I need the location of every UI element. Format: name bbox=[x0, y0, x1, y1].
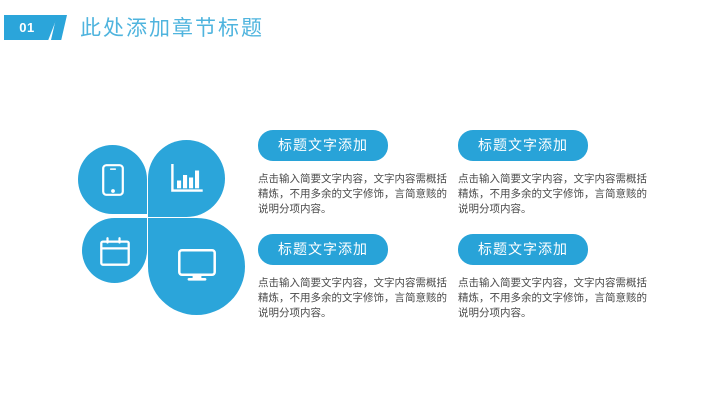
content-item-body: 点击输入简要文字内容，文字内容需概括精炼，不用多余的文字修饰，言简意赅的说明分项… bbox=[258, 276, 454, 321]
section-number-badge: 01 bbox=[4, 15, 58, 40]
content-item-3: 标题文字添加 点击输入简要文字内容，文字内容需概括精炼，不用多余的文字修饰，言简… bbox=[258, 234, 458, 321]
content-item-1: 标题文字添加 点击输入简要文字内容，文字内容需概括精炼，不用多余的文字修饰，言简… bbox=[258, 130, 458, 217]
content-item-title[interactable]: 标题文字添加 bbox=[458, 234, 588, 265]
calendar-icon bbox=[100, 237, 130, 266]
clover-petal-top-left[interactable] bbox=[78, 145, 147, 214]
slide-header: 01 此处添加章节标题 bbox=[0, 0, 720, 55]
clover-petal-bottom-right[interactable] bbox=[148, 218, 245, 315]
clover-petal-bottom-left[interactable] bbox=[82, 218, 147, 283]
content-item-body: 点击输入简要文字内容，文字内容需概括精炼，不用多余的文字修饰，言简意赅的说明分项… bbox=[458, 172, 654, 217]
content-item-body: 点击输入简要文字内容，文字内容需概括精炼，不用多余的文字修饰，言简意赅的说明分项… bbox=[258, 172, 454, 217]
clover-petal-top-right[interactable] bbox=[148, 140, 225, 217]
content-item-body: 点击输入简要文字内容，文字内容需概括精炼，不用多余的文字修饰，言简意赅的说明分项… bbox=[458, 276, 654, 321]
monitor-icon bbox=[178, 249, 216, 282]
page-title: 此处添加章节标题 bbox=[80, 12, 264, 42]
content-item-title[interactable]: 标题文字添加 bbox=[458, 130, 588, 161]
content-item-4: 标题文字添加 点击输入简要文字内容，文字内容需概括精炼，不用多余的文字修饰，言简… bbox=[458, 234, 658, 321]
clover-icon-cluster bbox=[70, 138, 252, 324]
smartphone-icon bbox=[102, 164, 124, 196]
content-grid: 标题文字添加 点击输入简要文字内容，文字内容需概括精炼，不用多余的文字修饰，言简… bbox=[258, 130, 704, 340]
bar-chart-icon bbox=[170, 164, 203, 194]
content-item-title[interactable]: 标题文字添加 bbox=[258, 130, 388, 161]
content-item-2: 标题文字添加 点击输入简要文字内容，文字内容需概括精炼，不用多余的文字修饰，言简… bbox=[458, 130, 658, 217]
section-number-label: 01 bbox=[4, 15, 50, 40]
content-item-title[interactable]: 标题文字添加 bbox=[258, 234, 388, 265]
